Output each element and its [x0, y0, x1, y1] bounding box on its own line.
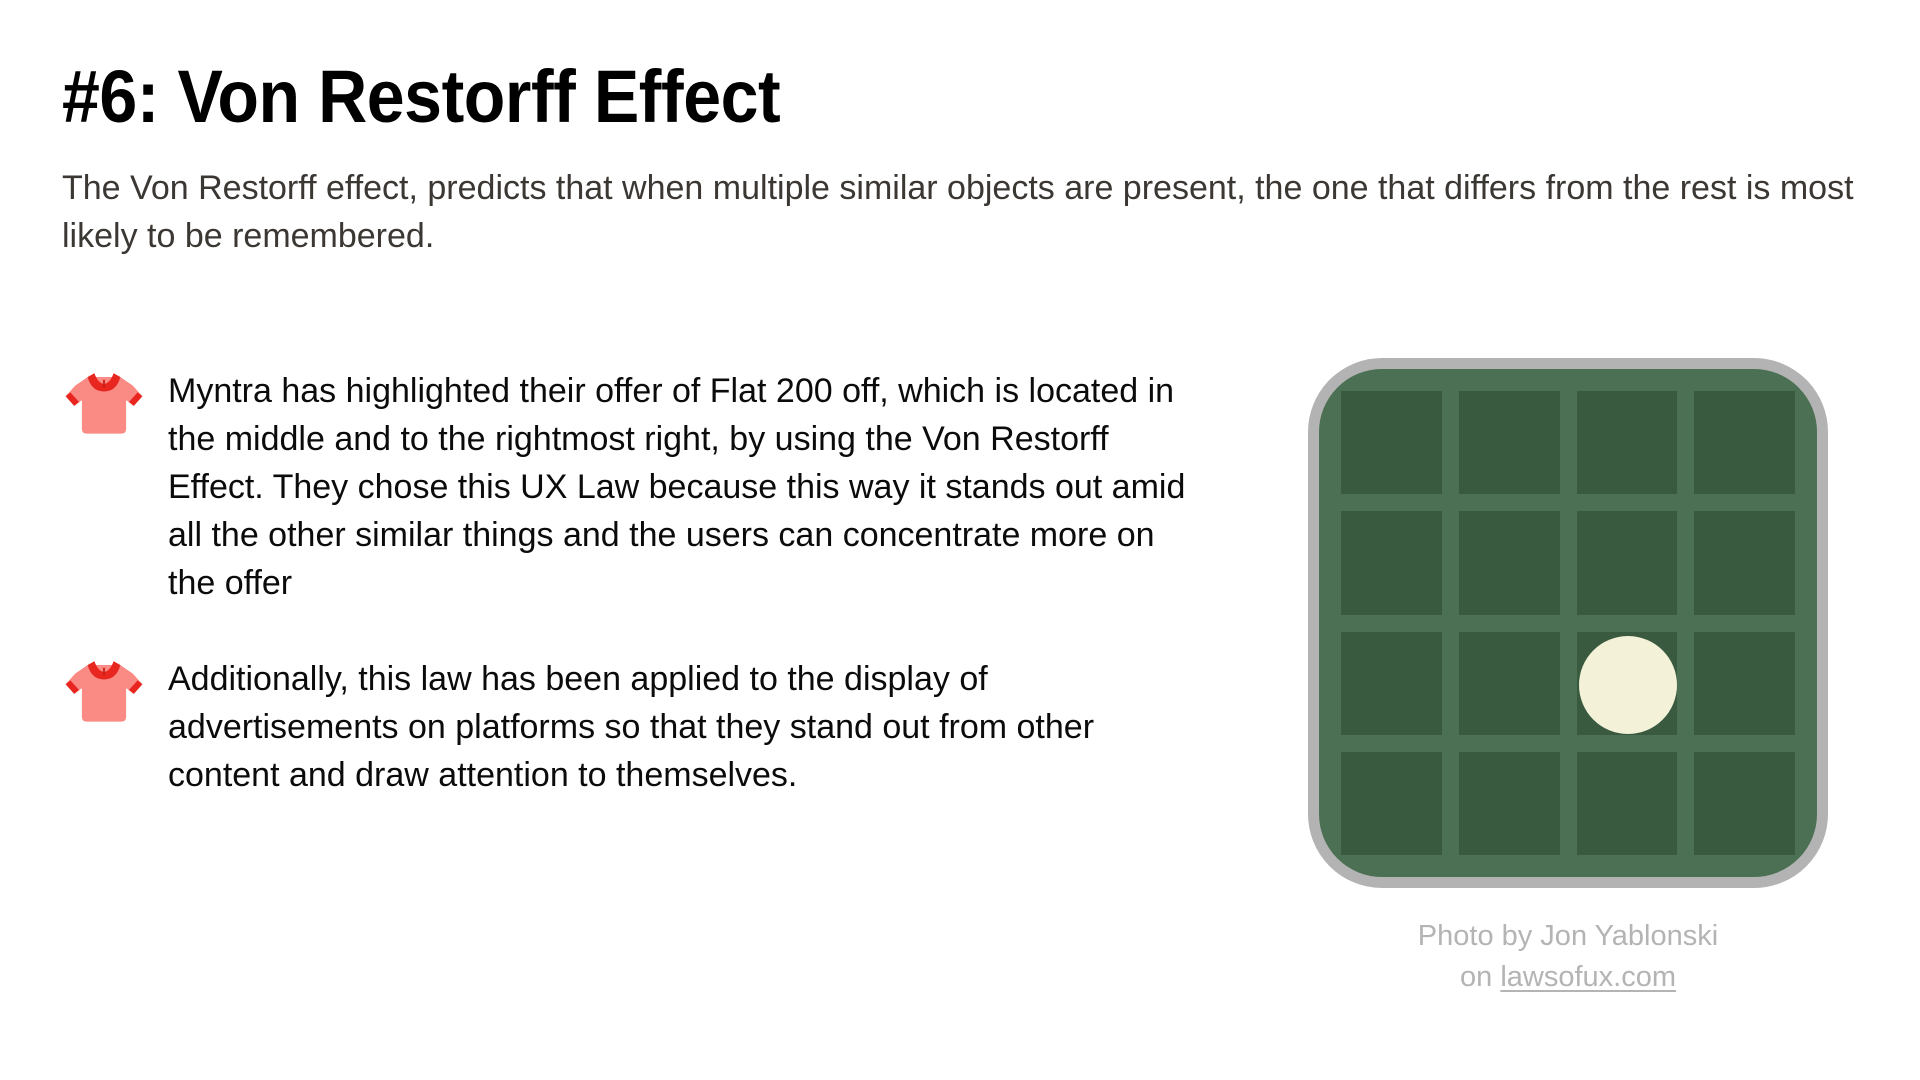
lawsofux-link[interactable]: lawsofux.com	[1500, 961, 1676, 993]
list-item-label: Additionally, this law has been applied …	[168, 656, 1208, 800]
grid-cell	[1341, 511, 1442, 614]
list-item: Additionally, this law has been applied …	[56, 656, 1271, 800]
list-item-label: Myntra has highlighted their offer of Fl…	[168, 368, 1208, 608]
grid-cell	[1577, 752, 1678, 855]
figure-caption: Photo by Jon Yablonski on lawsofux.com	[1298, 916, 1838, 998]
slide-header: #6: Von Restorff Effect The Von Restorff…	[62, 60, 1862, 261]
grid-cell	[1694, 632, 1795, 735]
grid-cell	[1459, 752, 1560, 855]
figure-caption-prefix: on	[1460, 961, 1500, 993]
slide-content: Myntra has highlighted their offer of Fl…	[0, 368, 1920, 1068]
grid-cell	[1341, 752, 1442, 855]
grid-cell	[1694, 511, 1795, 614]
figure-column: Photo by Jon Yablonski on lawsofux.com	[1298, 358, 1838, 998]
grid-cell	[1577, 391, 1678, 494]
bullet-list: Myntra has highlighted their offer of Fl…	[56, 368, 1271, 800]
slide-root: #6: Von Restorff Effect The Von Restorff…	[0, 0, 1920, 1080]
figure-grid	[1319, 369, 1817, 877]
grid-cell	[1459, 511, 1560, 614]
page-title: #6: Von Restorff Effect	[62, 60, 1718, 134]
figure-caption-line-2: on lawsofux.com	[1298, 957, 1838, 998]
grid-cell	[1341, 391, 1442, 494]
figure-caption-line-1: Photo by Jon Yablonski	[1298, 916, 1838, 957]
tshirt-icon	[56, 354, 152, 450]
grid-cell	[1694, 391, 1795, 494]
list-item: Myntra has highlighted their offer of Fl…	[56, 368, 1271, 608]
grid-cell	[1577, 511, 1678, 614]
grid-cell	[1694, 752, 1795, 855]
grid-cell	[1459, 391, 1560, 494]
highlight-dot	[1579, 636, 1677, 734]
slide-subtitle: The Von Restorff effect, predicts that w…	[62, 164, 1862, 261]
von-restorff-figure	[1308, 358, 1828, 888]
tshirt-icon	[56, 642, 152, 738]
grid-cell	[1341, 632, 1442, 735]
grid-cell	[1459, 632, 1560, 735]
